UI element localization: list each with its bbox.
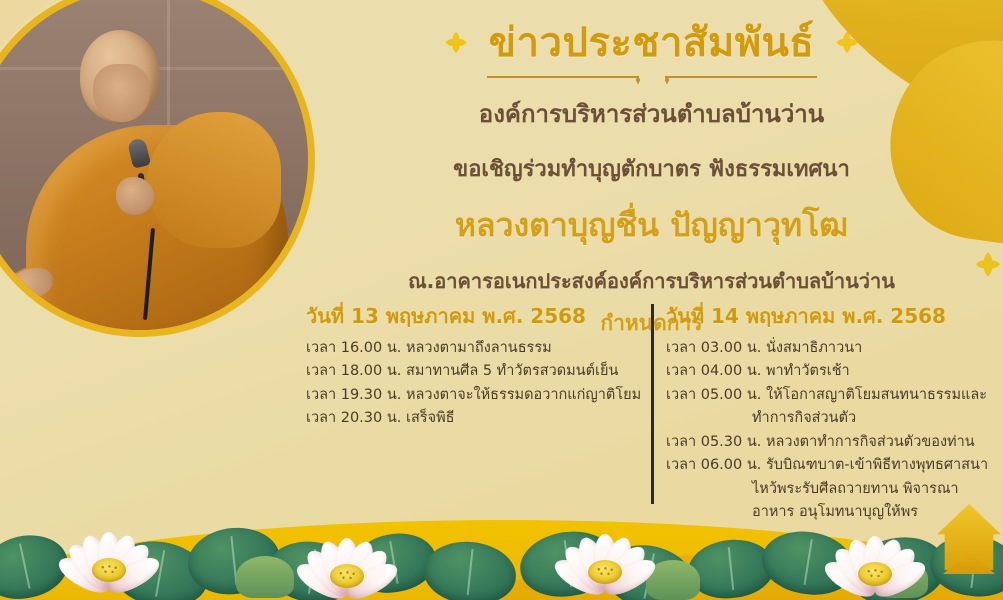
photo-face (93, 64, 150, 122)
monk-name: หลวงตาบุญชื่น ปัญญาวุทโฒ (300, 200, 1003, 251)
schedule-column-day1: วันที่ 13 พฤษภาคม พ.ศ. 2568 เวลา 16.00 น… (300, 300, 650, 525)
schedule-item: เวลา 06.00 น. รับบิณฑบาต-เข้าพิธีทางพุทธ… (666, 454, 997, 477)
title-row: ข่าวประชาสัมพันธ์ (300, 22, 1003, 64)
monk-photo (0, 0, 308, 330)
schedule-item: เวลา 16.00 น. หลวงตามาถึงลานธรรม (306, 337, 644, 360)
poster-content: ข่าวประชาสัมพันธ์ องค์การบริหารส่วนต (300, 0, 1003, 600)
lotus-flower-icon (50, 502, 168, 594)
lotus-leaf-icon (185, 523, 283, 598)
invitation-line: ขอเชิญร่วมทำบุญตักบาตร ฟังธรรมเทศนา (300, 151, 1003, 186)
page-title: ข่าวประชาสัมพันธ์ (489, 22, 815, 64)
announcement-poster: ข่าวประชาสัมพันธ์ องค์การบริหารส่วนต (0, 0, 1003, 600)
monk-photo-frame (0, 0, 315, 337)
photo-shoulder (147, 112, 281, 248)
four-petal-flower-icon-right (832, 28, 862, 58)
divider-ornament-left-icon (632, 71, 644, 83)
four-petal-flower-icon-side (971, 248, 1003, 282)
schedule-column-day2: วันที่ 14 พฤษภาคม พ.ศ. 2568 เวลา 03.00 น… (650, 300, 1003, 525)
lotus-leaf-icon (107, 534, 213, 600)
schedule-section: วันที่ 13 พฤษภาคม พ.ศ. 2568 เวลา 16.00 น… (300, 300, 1003, 525)
organization-name: องค์การบริหารส่วนตำบลบ้านว่าน (300, 94, 1003, 133)
schedule-item: เวลา 19.30 น. หลวงตาจะให้ธรรมดอวากแก่ญาต… (306, 384, 644, 407)
schedule-item: เวลา 18.00 น. สมาทานศีล 5 ทำวัตรสวดมนต์เ… (306, 360, 644, 383)
lotus-pod-icon (236, 556, 294, 598)
schedule-item: เวลา 05.00 น. ให้โอกาสญาติโยมสนทนาธรรมแล… (666, 384, 997, 407)
divider-ornament-right-icon (661, 71, 673, 83)
schedule-item-continuation: อาหาร อนุโมทนาบุญให้พร (666, 501, 997, 524)
date-heading-day1: วันที่ 13 พฤษภาคม พ.ศ. 2568 (306, 300, 644, 332)
schedule-item: เวลา 05.30 น. หลวงตาทำการกิจส่วนตัวของท่… (666, 431, 997, 454)
schedule-item-continuation: ไหว้พระรับศีลถวายทาน พิจารณา (666, 478, 997, 501)
schedule-item: เวลา 03.00 น. นั่งสมาธิภาวนา (666, 337, 997, 360)
four-petal-flower-icon-left (441, 28, 471, 58)
schedule-item: เวลา 04.00 น. พาทำวัตรเช้า (666, 360, 997, 383)
venue-line: ณ.อาคารอเนกประสงค์องค์การบริหารส่วนตำบลบ… (300, 265, 1003, 297)
date-heading-day2: วันที่ 14 พฤษภาคม พ.ศ. 2568 (666, 300, 997, 332)
title-divider (487, 70, 817, 84)
schedule-item: เวลา 20.30 น. เสร็จพิธี (306, 407, 644, 430)
lotus-leaf-icon (0, 528, 74, 600)
schedule-item-continuation: ทำการกิจส่วนตัว (666, 407, 997, 430)
